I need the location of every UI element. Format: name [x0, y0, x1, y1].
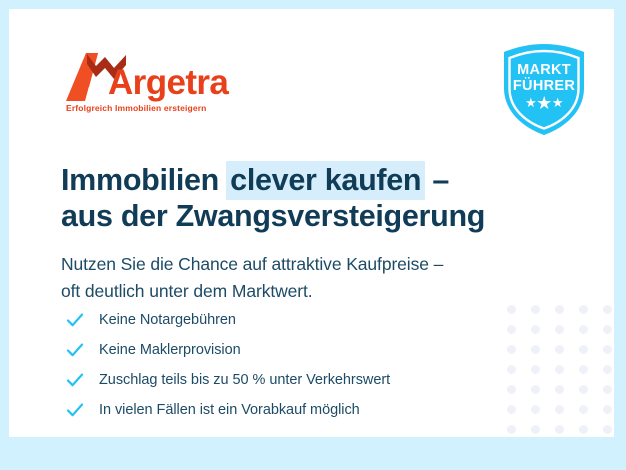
badge-line-2: FÜHRER	[498, 79, 590, 95]
subheading-line-2: oft deutlich unter dem Marktwert.	[61, 278, 591, 305]
badge-line-1: MARKT	[498, 63, 590, 79]
badge-text: MARKT FÜHRER	[498, 63, 590, 94]
headline-text-after: –	[424, 163, 449, 197]
list-item: Keine Maklerprovision	[65, 335, 535, 365]
headline: Immobilien clever kaufen – aus der Zwang…	[61, 162, 581, 234]
star-icon: ★	[552, 95, 563, 110]
argetra-logo: Argetra Erfolgreich Immobilien ersteiger…	[64, 51, 264, 121]
badge-stars: ★★★	[498, 96, 590, 110]
subheading-line-1: Nutzen Sie die Chance auf attraktive Kau…	[61, 251, 591, 278]
list-item-label: Keine Notargebühren	[99, 310, 236, 330]
star-icon: ★	[536, 93, 552, 113]
logo-tagline: Erfolgreich Immobilien ersteigern	[66, 103, 207, 113]
headline-text-before: Immobilien	[61, 163, 227, 197]
list-item-label: Keine Maklerprovision	[99, 340, 241, 360]
list-item: Zuschlag teils bis zu 50 % unter Verkehr…	[65, 365, 535, 395]
subheading: Nutzen Sie die Chance auf attraktive Kau…	[61, 251, 591, 305]
headline-line-1: Immobilien clever kaufen –	[61, 162, 581, 198]
list-item: In vielen Fällen ist ein Vorabkauf mögli…	[65, 395, 535, 425]
logo-wordmark: Argetra	[108, 64, 228, 102]
headline-line-2: aus der Zwangsversteigerung	[61, 198, 581, 234]
headline-highlight: clever kaufen	[226, 161, 425, 200]
list-item-label: Zuschlag teils bis zu 50 % unter Verkehr…	[99, 370, 390, 390]
check-icon	[65, 310, 85, 330]
star-icon: ★	[525, 95, 536, 110]
promo-banner: Argetra Erfolgreich Immobilien ersteiger…	[0, 0, 626, 470]
check-icon	[65, 400, 85, 420]
check-icon	[65, 370, 85, 390]
check-icon	[65, 340, 85, 360]
banner-card: Argetra Erfolgreich Immobilien ersteiger…	[9, 9, 614, 437]
list-item-label: In vielen Fällen ist ein Vorabkauf mögli…	[99, 400, 360, 420]
list-item: Keine Notargebühren	[65, 305, 535, 335]
markt-fuehrer-badge: MARKT FÜHRER ★★★	[498, 42, 590, 137]
benefit-list: Keine Notargebühren Keine Maklerprovisio…	[65, 305, 535, 425]
